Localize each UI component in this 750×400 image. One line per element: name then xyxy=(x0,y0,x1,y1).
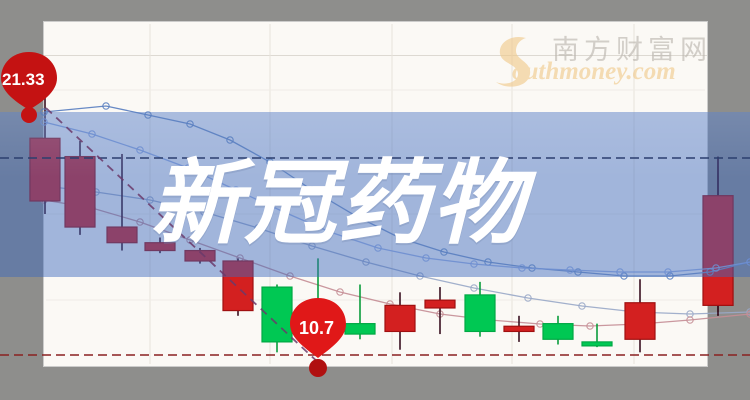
ma-line-MA-B xyxy=(44,122,750,272)
chart-overlay-lines xyxy=(0,0,750,400)
screenshot-root: 南方财富网 outhmoney.com 新冠药物 21.33 10.7 xyxy=(0,0,750,400)
ma-line-MA-A xyxy=(44,106,750,276)
trend-line-downtrend-dashed xyxy=(46,108,322,366)
